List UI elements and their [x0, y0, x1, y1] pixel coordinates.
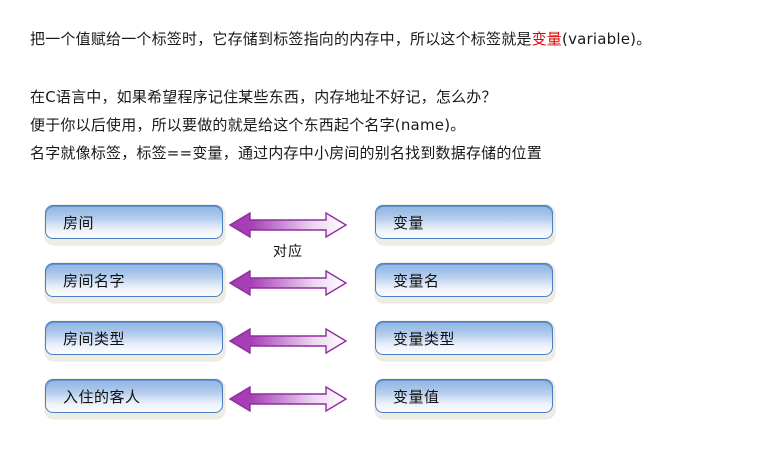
variable-name-box: 变量名: [375, 263, 555, 303]
mapping-row: 入住的客人 变量值: [0, 379, 784, 423]
intro-paragraph: 把一个值赋给一个标签时，它存储到标签指向的内存中，所以这个标签就是变量(vari…: [30, 25, 651, 53]
double-arrow-icon: [228, 326, 348, 356]
text-segment: 便于你以后使用，所以要做的就是给这个东西起个名字(name)。: [30, 116, 465, 134]
box-label: 变量名: [393, 270, 440, 291]
paragraph-line: 在C语言中，如果希望程序记住某些东西，内存地址不好记，怎么办？: [30, 83, 542, 111]
box-face: 入住的客人: [45, 379, 223, 413]
box-face: 房间: [45, 205, 223, 239]
paragraph-line: 把一个值赋给一个标签时，它存储到标签指向的内存中，所以这个标签就是变量(vari…: [30, 25, 651, 53]
text-segment: 名字就像标签，标签==变量，通过内存中小房间的别名找到数据存储的位置: [30, 144, 542, 162]
relation-label: 对应: [228, 241, 348, 261]
double-arrow-icon: [228, 210, 348, 240]
mapping-row: 房间名字 变量名: [0, 263, 784, 307]
room-type-box: 房间类型: [45, 321, 225, 361]
paragraph-line: 名字就像标签，标签==变量，通过内存中小房间的别名找到数据存储的位置: [30, 139, 542, 167]
highlighted-term: 变量: [532, 30, 562, 48]
box-face: 房间名字: [45, 263, 223, 297]
box-label: 房间名字: [63, 270, 125, 291]
mapping-row: 房间类型 变量类型: [0, 321, 784, 365]
explanation-paragraph: 在C语言中，如果希望程序记住某些东西，内存地址不好记，怎么办？ 便于你以后使用，…: [30, 83, 542, 167]
box-face: 变量: [375, 205, 553, 239]
box-label: 变量: [393, 212, 424, 233]
box-face: 变量名: [375, 263, 553, 297]
box-label: 房间类型: [63, 328, 125, 349]
room-variable-mapping-diagram: 房间 对应 变量: [0, 195, 784, 435]
room-guest-box: 入住的客人: [45, 379, 225, 419]
text-segment: (variable)。: [562, 30, 651, 48]
text-segment: 在C语言中，如果希望程序记住某些东西，内存地址不好记，怎么办？: [30, 88, 497, 106]
double-arrow-icon: [228, 384, 348, 414]
variable-concept-box: 变量: [375, 205, 555, 245]
box-face: 变量类型: [375, 321, 553, 355]
mapping-row: 房间 对应 变量: [0, 205, 784, 249]
box-label: 变量类型: [393, 328, 455, 349]
double-arrow-icon: [228, 268, 348, 298]
room-concept-box: 房间: [45, 205, 225, 245]
box-label: 房间: [63, 212, 94, 233]
variable-value-box: 变量值: [375, 379, 555, 419]
variable-type-box: 变量类型: [375, 321, 555, 361]
box-face: 变量值: [375, 379, 553, 413]
room-name-box: 房间名字: [45, 263, 225, 303]
box-label: 变量值: [393, 386, 440, 407]
text-segment: 把一个值赋给一个标签时，它存储到标签指向的内存中，所以这个标签就是: [30, 30, 532, 48]
box-label: 入住的客人: [63, 386, 141, 407]
paragraph-line: 便于你以后使用，所以要做的就是给这个东西起个名字(name)。: [30, 111, 542, 139]
box-face: 房间类型: [45, 321, 223, 355]
